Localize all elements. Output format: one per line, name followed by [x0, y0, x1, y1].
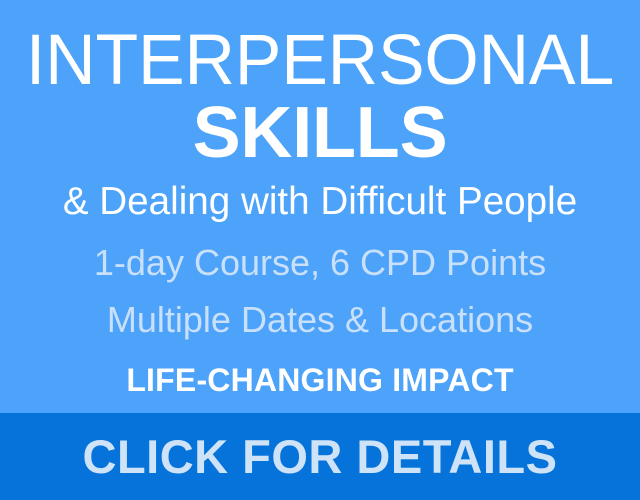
- subheadline: & Dealing with Difficult People: [3, 182, 637, 223]
- impact-statement: LIFE-CHANGING IMPACT: [0, 364, 640, 396]
- cta-label: CLICK FOR DETAILS: [83, 433, 558, 480]
- banner-content: INTERPERSONAL SKILLS & Dealing with Diff…: [0, 0, 640, 413]
- headline-line-1: INTERPERSONAL: [5, 26, 635, 96]
- detail-line-dates-locations: Multiple Dates & Locations: [0, 302, 640, 338]
- promo-banner: INTERPERSONAL SKILLS & Dealing with Diff…: [0, 0, 640, 500]
- headline-line-2: SKILLS: [0, 98, 640, 169]
- detail-line-course-info: 1-day Course, 6 CPD Points: [0, 245, 640, 281]
- click-for-details-button[interactable]: CLICK FOR DETAILS: [0, 413, 640, 500]
